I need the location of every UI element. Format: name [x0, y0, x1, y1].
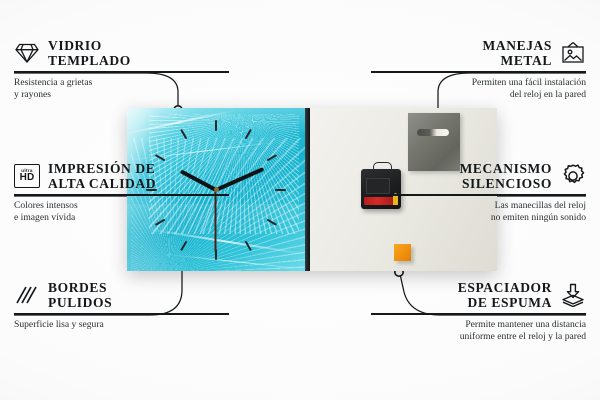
feature-description: Las manecillas del reloj no emiten ningú…: [371, 200, 586, 225]
feature-divider: [14, 313, 229, 315]
feature-bordes-pulidos: BORDES PULIDOS Superficie lisa y segura: [14, 280, 229, 331]
feature-header: VIDRIO TEMPLADO: [14, 38, 229, 68]
feature-divider: [371, 313, 586, 315]
feature-header: ESPACIADOR DE ESPUMA: [371, 280, 586, 310]
feature-description: Permiten una fácil instalación del reloj…: [371, 77, 586, 102]
diagonal-lines-icon: [14, 282, 40, 308]
hanger-keyhole-slot: [417, 129, 449, 136]
feature-divider: [371, 194, 586, 196]
hd-badge: ultra HD: [14, 164, 40, 188]
feature-title: VIDRIO TEMPLADO: [48, 38, 131, 68]
feature-divider: [371, 71, 586, 73]
feature-description: Superficie lisa y segura: [14, 319, 229, 332]
feature-title: MANEJAS METAL: [483, 38, 552, 68]
feature-mecanismo-silencioso: MECANISMO SILENCIOSO Las manecillas del …: [371, 161, 586, 225]
feature-title: BORDES PULIDOS: [48, 280, 112, 310]
diamond-icon: [14, 40, 40, 66]
dial-tick: [215, 120, 217, 131]
feature-header: ultra HD IMPRESIÓN DE ALTA CALIDAD: [14, 161, 229, 191]
foam-spacer: [394, 244, 411, 261]
feature-description: Resistencia a grietas y rayones: [14, 77, 229, 102]
feature-header: MECANISMO SILENCIOSO: [371, 161, 586, 191]
gear-icon: [560, 163, 586, 189]
feature-divider: [14, 71, 229, 73]
feature-manejas-metal: MANEJAS METAL Permiten una fácil instala…: [371, 38, 586, 102]
hd-badge-main-label: HD: [20, 173, 35, 183]
feature-header: MANEJAS METAL: [371, 38, 586, 68]
feature-header: BORDES PULIDOS: [14, 280, 229, 310]
ultra-hd-icon: ultra HD: [14, 163, 40, 189]
picture-frame-icon: [560, 40, 586, 66]
feature-divider: [14, 194, 229, 196]
arrow-down-pad-icon: [560, 282, 586, 308]
feature-espaciador-espuma: ESPACIADOR DE ESPUMA Permite mantener un…: [371, 280, 586, 344]
dial-tick: [275, 189, 286, 191]
feature-impresion-alta-calidad: ultra HD IMPRESIÓN DE ALTA CALIDAD Color…: [14, 161, 229, 225]
infographic-canvas: VIDRIO TEMPLADO Resistencia a grietas y …: [0, 0, 600, 400]
feature-title: MECANISMO SILENCIOSO: [460, 161, 552, 191]
feature-description: Colores intensos e imagen vívida: [14, 200, 229, 225]
feature-vidrio-templado: VIDRIO TEMPLADO Resistencia a grietas y …: [14, 38, 229, 102]
feature-title: ESPACIADOR DE ESPUMA: [458, 280, 552, 310]
feature-title: IMPRESIÓN DE ALTA CALIDAD: [48, 161, 156, 191]
feature-description: Permite mantener una distancia uniforme …: [371, 319, 586, 344]
